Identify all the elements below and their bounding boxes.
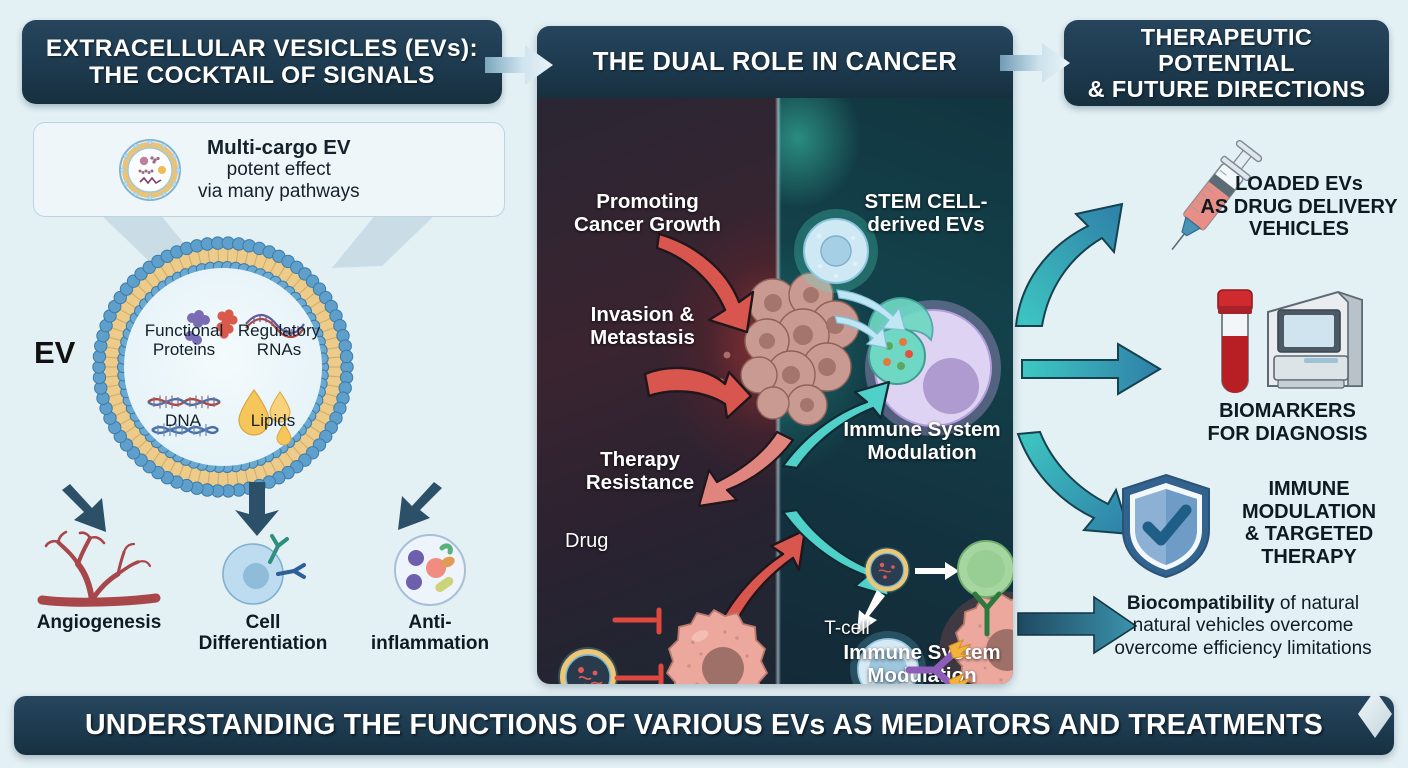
multi-cargo-line2: potent effect xyxy=(198,159,360,181)
multi-cargo-line3: via many pathways xyxy=(198,181,360,203)
label-stem-cell-derived-evs: STEM CELL-derived EVs xyxy=(837,190,1013,237)
blood-vessel-icon xyxy=(34,530,164,608)
outcome-label-angiogenesis: Angiogenesis xyxy=(10,612,188,633)
header-middle-text: THE DUAL ROLE IN CANCER xyxy=(593,48,957,77)
right-item-title-immune-modulation: IMMUNE MODULATION & TARGETED THERAPY xyxy=(1225,478,1393,568)
multi-cargo-title: Multi-cargo EV xyxy=(198,136,360,160)
center-panel-body: PromotingCancer Growth Invasion &Metasta… xyxy=(537,98,1013,684)
outcome-label-anti-inflammation: Anti-inflammation xyxy=(350,612,510,655)
header-banner-left: EXTRACELLULAR VESICLES (EVs): THE COCKTA… xyxy=(22,20,502,104)
header-connector-arrow-left-to-middle xyxy=(485,44,555,86)
ev-label: EV xyxy=(34,335,75,371)
cancer-cell-drug-target xyxy=(655,606,773,684)
differentiated-cell-icon xyxy=(208,530,318,608)
multi-cargo-callout: Multi-cargo EV potent effect via many pa… xyxy=(33,122,505,217)
header-banner-middle: THE DUAL ROLE IN CANCER xyxy=(537,26,1013,98)
footer-text: UNDERSTANDING THE FUNCTIONS OF VARIOUS E… xyxy=(85,709,1323,742)
multi-cargo-callout-text: Multi-cargo EV potent effect via many pa… xyxy=(198,136,360,204)
header-left-line2: THE COCKTAIL OF SIGNALS xyxy=(89,62,435,89)
ev-vesicle-diagram xyxy=(88,232,358,502)
header-banner-right: THERAPEUTIC POTENTIAL & FUTURE DIRECTION… xyxy=(1064,20,1389,106)
arrow-invasion-metastasis xyxy=(643,366,753,436)
cargo-label-regulatory-rnas: RegulatoryRNAs xyxy=(224,322,334,359)
cargo-label-dna: DNA xyxy=(138,412,228,431)
drug-loaded-ev-icon xyxy=(557,646,619,684)
right-item-title-loaded-evs: LOADED EVs AS DRUG DELIVERY VEHICLES xyxy=(1195,173,1403,241)
label-invasion-metastasis: Invasion &Metastasis xyxy=(545,303,740,350)
green-cell-receptor xyxy=(967,590,1007,634)
footer-banner: UNDERSTANDING THE FUNCTIONS OF VARIOUS E… xyxy=(14,696,1394,755)
anti-inflammation-cell-icon xyxy=(384,530,476,608)
label-therapy-resistance: TherapyResistance xyxy=(545,448,735,495)
biocompatibility-bold: Biocompatibility xyxy=(1127,593,1275,614)
header-right-line1: THERAPEUTIC POTENTIAL xyxy=(1141,24,1313,76)
label-tcell: T-cell xyxy=(802,618,892,640)
cytotoxic-attack-icon xyxy=(949,636,995,684)
lab-analyzer-icon xyxy=(1262,282,1367,400)
immune-ev-icon xyxy=(863,546,911,594)
arrow-to-biomarkers xyxy=(1022,340,1162,398)
label-promoting-cancer-growth: PromotingCancer Growth xyxy=(545,190,750,237)
outcome-anti-inflammation: Anti-inflammation xyxy=(350,530,510,655)
center-panel-dual-role: PromotingCancer Growth Invasion &Metasta… xyxy=(537,26,1013,684)
right-item-title-biomarkers: BIOMARKERS FOR DIAGNOSIS xyxy=(1185,400,1390,445)
header-right-line2: & FUTURE DIRECTIONS xyxy=(1088,76,1366,102)
blood-tube-icon xyxy=(1212,288,1258,398)
header-left-line1: EXTRACELLULAR VESICLES (EVs): xyxy=(46,35,478,62)
stem-cell-ev-arrows xyxy=(835,286,925,356)
arrow-to-loaded-evs xyxy=(1014,190,1144,330)
outcome-angiogenesis: Angiogenesis xyxy=(10,530,188,633)
outcome-label-cell-differentiation: CellDifferentiation xyxy=(188,612,338,655)
label-immune-system-modulation-upper: Immune SystemModulation xyxy=(827,418,1013,465)
header-connector-arrow-middle-to-right xyxy=(1000,42,1072,84)
label-drug: Drug xyxy=(565,530,645,553)
biocompatibility-text: Biocompatibility of natural natural vehi… xyxy=(1078,593,1408,660)
shield-check-icon xyxy=(1118,472,1214,580)
outcome-cell-differentiation: CellDifferentiation xyxy=(188,530,338,655)
cargo-label-lipids: Lipids xyxy=(228,412,318,431)
multi-cargo-ev-icon xyxy=(118,138,182,202)
